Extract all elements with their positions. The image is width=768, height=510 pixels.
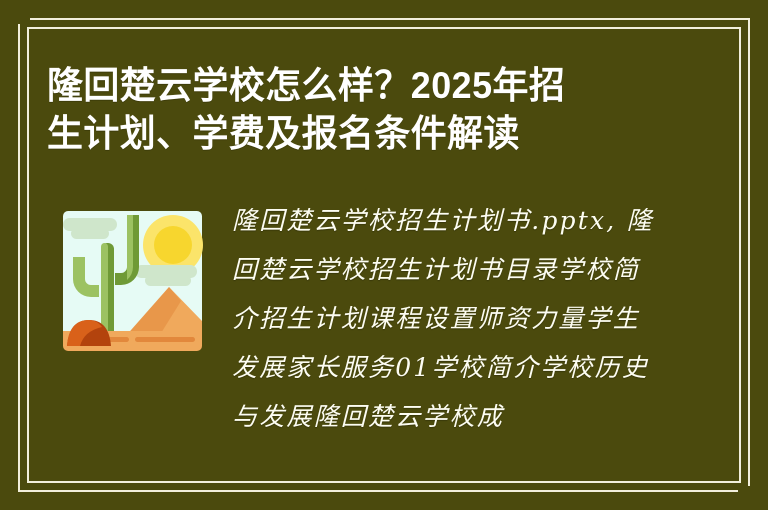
- desert-cactus-scene-icon: [57, 209, 208, 352]
- article-poster: 隆回楚云学校怎么样？2025年招 生计划、学费及报名条件解读: [0, 0, 768, 510]
- title-line-1: 隆回楚云学校怎么样？2025年招: [47, 62, 668, 110]
- article-body-text: 隆回楚云学校招生计划书.pptx, 隆回楚云学校招生计划书目录学校简介招生计划课…: [232, 196, 656, 464]
- content-row: 隆回楚云学校招生计划书.pptx, 隆回楚云学校招生计划书目录学校简介招生计划课…: [0, 196, 768, 486]
- frame-corner-notch-top-left: [14, 14, 30, 24]
- desert-illustration-svg: [57, 209, 208, 352]
- frame-corner-notch-bottom-right: [738, 486, 754, 496]
- page-title: 隆回楚云学校怎么样？2025年招 生计划、学费及报名条件解读: [47, 62, 687, 158]
- title-line-2: 生计划、学费及报名条件解读: [47, 110, 668, 158]
